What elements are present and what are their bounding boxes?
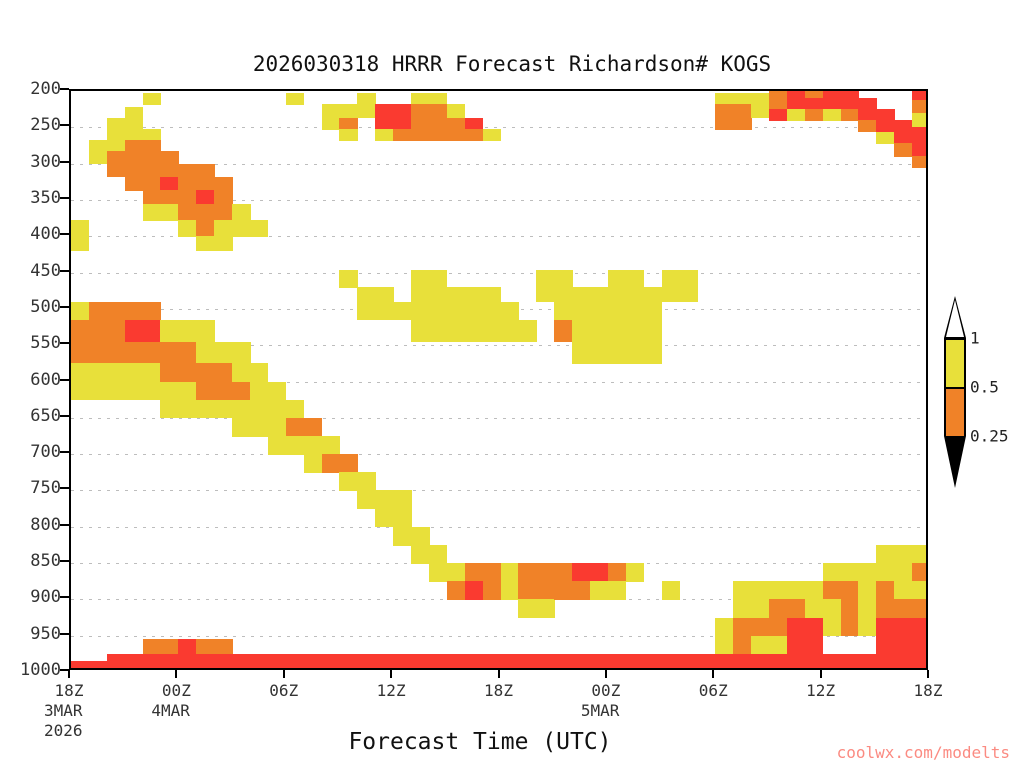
y-axis-tick-label: 650 bbox=[0, 406, 61, 426]
x-axis-tick-label: 18Z bbox=[24, 681, 114, 700]
heatmap-cell bbox=[322, 654, 340, 670]
y-axis-tick-label: 250 bbox=[0, 115, 61, 135]
y-axis-tick-label: 550 bbox=[0, 333, 61, 353]
heatmap-cell bbox=[178, 220, 196, 237]
heatmap-cell bbox=[912, 113, 928, 128]
heatmap-cell bbox=[733, 599, 751, 618]
heatmap-cell bbox=[214, 190, 232, 204]
y-axis-tick-label: 1000 bbox=[0, 660, 61, 680]
heatmap-cell bbox=[160, 151, 178, 164]
heatmap-cell bbox=[483, 563, 501, 582]
heatmap-cell bbox=[232, 400, 250, 419]
heatmap-cell bbox=[107, 164, 125, 178]
x-axis-tick-label: 06Z bbox=[668, 681, 758, 700]
heatmap-cell bbox=[572, 563, 590, 582]
y-axis-tick-label: 600 bbox=[0, 370, 61, 390]
heatmap-cell bbox=[411, 302, 429, 321]
heatmap-cell bbox=[375, 490, 393, 509]
x-axis-tick-label: 00Z bbox=[131, 681, 221, 700]
heatmap-cell bbox=[286, 418, 304, 437]
y-axis-tick-mark bbox=[60, 379, 69, 381]
heatmap-cell bbox=[894, 618, 912, 637]
heatmap-cell bbox=[250, 382, 268, 401]
heatmap-cell bbox=[125, 140, 143, 151]
heatmap-cell bbox=[662, 287, 680, 302]
x-axis-tick-sublabel: 5MAR bbox=[581, 701, 671, 720]
heatmap-cell bbox=[304, 418, 322, 437]
heatmap-cell bbox=[501, 302, 519, 321]
heatmap-cell bbox=[572, 287, 590, 302]
heatmap-cell bbox=[375, 509, 393, 528]
heatmap-cell bbox=[894, 581, 912, 600]
heatmap-cell bbox=[178, 400, 196, 419]
heatmap-cell bbox=[268, 436, 286, 455]
heatmap-cell bbox=[196, 639, 214, 654]
heatmap-cell bbox=[107, 118, 125, 130]
heatmap-cell bbox=[536, 654, 554, 670]
heatmap-cell bbox=[232, 363, 250, 382]
heatmap-cell bbox=[322, 118, 340, 130]
x-axis-tick-mark bbox=[820, 670, 822, 678]
heatmap-cell bbox=[375, 287, 393, 302]
heatmap-cell bbox=[787, 618, 805, 637]
y-axis-tick-label: 950 bbox=[0, 624, 61, 644]
heatmap-cell bbox=[715, 654, 733, 670]
heatmap-cell bbox=[71, 302, 89, 321]
heatmap-cell bbox=[250, 418, 268, 437]
heatmap-cell bbox=[751, 636, 769, 655]
heatmap-cell bbox=[107, 302, 125, 321]
x-axis-tick-label: 18Z bbox=[883, 681, 973, 700]
heatmap-cell bbox=[894, 636, 912, 655]
heatmap-cell bbox=[644, 320, 662, 342]
x-axis-tick-label: 00Z bbox=[561, 681, 651, 700]
heatmap-cell bbox=[626, 287, 644, 302]
heatmap-cell bbox=[89, 320, 107, 342]
heatmap-cell bbox=[769, 581, 787, 600]
heatmap-cell bbox=[375, 654, 393, 670]
heatmap-cell bbox=[465, 118, 483, 130]
heatmap-cell bbox=[841, 109, 859, 120]
heatmap-cell bbox=[250, 400, 268, 419]
y-axis-tick-mark bbox=[60, 342, 69, 344]
heatmap-cell bbox=[143, 342, 161, 364]
heatmap-cell bbox=[841, 654, 859, 670]
heatmap-cell bbox=[483, 129, 501, 140]
heatmap-cell bbox=[411, 320, 429, 342]
y-axis-tick-mark bbox=[60, 487, 69, 489]
heatmap-cell bbox=[107, 342, 125, 364]
heatmap-cell bbox=[518, 563, 536, 582]
heatmap-cell bbox=[590, 302, 608, 321]
heatmap-cell bbox=[89, 382, 107, 401]
heatmap-cell bbox=[894, 599, 912, 618]
heatmap-cell bbox=[339, 654, 357, 670]
heatmap-cell bbox=[429, 302, 447, 321]
y-axis-tick-label: 300 bbox=[0, 152, 61, 172]
heatmap-cell bbox=[894, 120, 912, 132]
heatmap-cell bbox=[178, 654, 196, 670]
heatmap-cell bbox=[787, 98, 805, 109]
heatmap-cell bbox=[214, 400, 232, 419]
heatmap-cell bbox=[447, 104, 465, 118]
heatmap-cell bbox=[125, 342, 143, 364]
x-axis-tick-label: 06Z bbox=[239, 681, 329, 700]
heatmap-cell bbox=[160, 320, 178, 342]
heatmap-cell bbox=[143, 129, 161, 140]
heatmap-cell bbox=[393, 129, 411, 140]
colorbar-legend: 10.50.25 bbox=[936, 296, 976, 488]
heatmap-cell bbox=[787, 599, 805, 618]
y-axis-tick-label: 500 bbox=[0, 297, 61, 317]
heatmap-cell bbox=[178, 190, 196, 204]
y-axis-tick-mark bbox=[60, 596, 69, 598]
heatmap-cell bbox=[393, 104, 411, 118]
colorbar-tick-label: 0.25 bbox=[970, 427, 1009, 446]
heatmap-cell bbox=[268, 654, 286, 670]
heatmap-cell bbox=[160, 204, 178, 221]
heatmap-cell bbox=[465, 129, 483, 140]
heatmap-cell bbox=[143, 639, 161, 654]
heatmap-cell bbox=[107, 320, 125, 342]
heatmap-cell bbox=[554, 302, 572, 321]
heatmap-cell bbox=[196, 190, 214, 204]
heatmap-cell bbox=[178, 320, 196, 342]
heatmap-cell bbox=[715, 618, 733, 637]
heatmap-cell bbox=[322, 436, 340, 455]
heatmap-cell bbox=[715, 636, 733, 655]
heatmap-cell bbox=[608, 302, 626, 321]
y-axis-tick-mark bbox=[60, 451, 69, 453]
heatmap-cell bbox=[554, 287, 572, 302]
heatmap-cell bbox=[608, 342, 626, 364]
heatmap-cell bbox=[357, 287, 375, 302]
heatmap-cell bbox=[841, 98, 859, 109]
heatmap-cell bbox=[876, 120, 894, 132]
heatmap-cell bbox=[107, 654, 125, 670]
heatmap-cell bbox=[608, 320, 626, 342]
heatmap-cell bbox=[322, 104, 340, 118]
y-axis-tick-label: 450 bbox=[0, 261, 61, 281]
heatmap-cell bbox=[501, 654, 519, 670]
heatmap-cell bbox=[447, 302, 465, 321]
heatmap-cell bbox=[375, 118, 393, 130]
heatmap-cell bbox=[483, 581, 501, 600]
heatmap-cell bbox=[876, 618, 894, 637]
heatmap-cell bbox=[805, 109, 823, 120]
heatmap-cell bbox=[751, 104, 769, 118]
heatmap-cell bbox=[662, 270, 680, 287]
heatmap-cell bbox=[501, 563, 519, 582]
heatmap-cell bbox=[429, 93, 447, 104]
heatmap-cell bbox=[697, 654, 715, 670]
heatmap-cell bbox=[912, 636, 928, 655]
heatmap-cell bbox=[662, 654, 680, 670]
heatmap-cell bbox=[751, 654, 769, 670]
heatmap-cell bbox=[89, 140, 107, 151]
heatmap-cell bbox=[876, 636, 894, 655]
heatmap-cell bbox=[501, 581, 519, 600]
heatmap-cell bbox=[357, 490, 375, 509]
y-axis-tick-mark bbox=[60, 197, 69, 199]
watermark: coolwx.com/modelts bbox=[837, 743, 1010, 762]
heatmap-cell bbox=[429, 104, 447, 118]
heatmap-cell bbox=[894, 143, 912, 157]
heatmap-cell bbox=[465, 287, 483, 302]
heatmap-cell bbox=[626, 320, 644, 342]
heatmap-cell bbox=[375, 129, 393, 140]
colorbar-tick-label: 1 bbox=[970, 329, 980, 348]
heatmap-cell bbox=[644, 287, 662, 302]
heatmap-cell bbox=[733, 118, 751, 130]
heatmap-cell bbox=[214, 654, 232, 670]
heatmap-cell bbox=[143, 302, 161, 321]
heatmap-cell bbox=[214, 220, 232, 237]
heatmap-cell bbox=[143, 654, 161, 670]
heatmap-cell bbox=[447, 118, 465, 130]
heatmap-cell bbox=[214, 236, 232, 251]
heatmap-cell bbox=[125, 107, 143, 118]
heatmap-cell bbox=[196, 177, 214, 191]
colorbar-segment-yellow bbox=[944, 338, 966, 387]
heatmap-cell bbox=[214, 639, 232, 654]
heatmap-cell bbox=[787, 636, 805, 655]
x-axis-tick-mark bbox=[68, 670, 70, 678]
heatmap-cell bbox=[160, 654, 178, 670]
heatmap-cell bbox=[733, 654, 751, 670]
heatmap-cell bbox=[178, 382, 196, 401]
heatmap-cell bbox=[143, 177, 161, 191]
heatmap-cell bbox=[644, 654, 662, 670]
heatmap-cell bbox=[805, 599, 823, 618]
y-axis-tick-label: 350 bbox=[0, 188, 61, 208]
heatmap-cell bbox=[805, 618, 823, 637]
heatmap-cell bbox=[554, 563, 572, 582]
heatmap-cell bbox=[214, 382, 232, 401]
heatmap-cell bbox=[894, 545, 912, 564]
heatmap-cell bbox=[160, 190, 178, 204]
heatmap-cell bbox=[787, 109, 805, 120]
heatmap-cell bbox=[554, 320, 572, 342]
heatmap-cell bbox=[894, 132, 912, 144]
heatmap-cell bbox=[429, 287, 447, 302]
heatmap-cell bbox=[805, 98, 823, 109]
heatmap-cell bbox=[143, 204, 161, 221]
heatmap-cell bbox=[107, 363, 125, 382]
heatmap-cell bbox=[679, 654, 697, 670]
heatmap-cell bbox=[769, 636, 787, 655]
heatmap-cell bbox=[429, 129, 447, 140]
heatmap-cell bbox=[178, 164, 196, 178]
x-axis-tick-label: 12Z bbox=[346, 681, 436, 700]
heatmap-cell bbox=[160, 400, 178, 419]
heatmap-cell bbox=[214, 177, 232, 191]
heatmap-cell bbox=[125, 118, 143, 130]
x-axis-tick-sublabel-year: 2026 bbox=[44, 721, 134, 740]
heatmap-cell bbox=[912, 127, 928, 142]
heatmap-cell bbox=[876, 654, 894, 670]
heatmap-cell bbox=[465, 654, 483, 670]
heatmap-cell bbox=[858, 581, 876, 600]
heatmap-cell bbox=[125, 320, 143, 342]
heatmap-cell bbox=[465, 320, 483, 342]
heatmap-cell bbox=[125, 177, 143, 191]
heatmap-cell bbox=[715, 104, 733, 118]
y-axis-tick-label: 800 bbox=[0, 515, 61, 535]
heatmap-cell bbox=[841, 581, 859, 600]
heatmap-cell bbox=[608, 581, 626, 600]
heatmap-cell bbox=[858, 563, 876, 582]
x-axis-tick-label: 18Z bbox=[454, 681, 544, 700]
y-axis-tick-mark bbox=[60, 306, 69, 308]
heatmap-cell bbox=[912, 142, 928, 157]
heatmap-cell bbox=[554, 654, 572, 670]
heatmap-cell bbox=[572, 581, 590, 600]
heatmap-cell bbox=[393, 509, 411, 528]
heatmap-cell bbox=[411, 104, 429, 118]
heatmap-cell bbox=[483, 654, 501, 670]
x-axis-tick-mark bbox=[283, 670, 285, 678]
heatmap-cell bbox=[858, 109, 876, 120]
heatmap-cell bbox=[232, 654, 250, 670]
colorbar-segment-orange bbox=[944, 387, 966, 436]
heatmap-cell bbox=[178, 363, 196, 382]
heatmap-cell bbox=[626, 654, 644, 670]
heatmap-cell bbox=[894, 563, 912, 582]
heatmap-cell bbox=[554, 270, 572, 287]
heatmap-cell bbox=[232, 382, 250, 401]
heatmap-cell bbox=[160, 177, 178, 191]
heatmap-cell bbox=[71, 342, 89, 364]
heatmap-cell bbox=[608, 563, 626, 582]
heatmap-cell bbox=[876, 599, 894, 618]
heatmap-cell bbox=[178, 342, 196, 364]
heatmap-cell bbox=[286, 654, 304, 670]
heatmap-cell bbox=[823, 581, 841, 600]
heatmap-cell bbox=[411, 270, 429, 287]
heatmap-cell bbox=[590, 563, 608, 582]
heatmap-cell bbox=[447, 129, 465, 140]
heatmap-cell bbox=[357, 302, 375, 321]
heatmap-cell bbox=[160, 382, 178, 401]
heatmap-cell bbox=[858, 599, 876, 618]
heatmap-cell bbox=[250, 363, 268, 382]
heatmap-cell bbox=[733, 636, 751, 655]
heatmap-cell bbox=[71, 661, 89, 670]
heatmap-cell bbox=[232, 220, 250, 237]
heatmap-cell bbox=[375, 302, 393, 321]
x-axis-tick-mark bbox=[712, 670, 714, 678]
heatmap-cell bbox=[912, 599, 928, 618]
heatmap-cell bbox=[447, 581, 465, 600]
heatmap-cell bbox=[858, 618, 876, 637]
heatmap-cell bbox=[268, 382, 286, 401]
heatmap-cell bbox=[160, 164, 178, 178]
y-axis-tick-label: 750 bbox=[0, 478, 61, 498]
heatmap-cell bbox=[429, 545, 447, 564]
heatmap-cell bbox=[411, 129, 429, 140]
y-axis-tick-label: 850 bbox=[0, 551, 61, 571]
heatmap-cell bbox=[912, 581, 928, 600]
heatmap-cell bbox=[912, 618, 928, 637]
heatmap-cell bbox=[143, 190, 161, 204]
heatmap-cell bbox=[160, 342, 178, 364]
heatmap-cell bbox=[143, 140, 161, 151]
heatmap-cell bbox=[590, 654, 608, 670]
heatmap-cell bbox=[429, 118, 447, 130]
heatmap-cell bbox=[608, 287, 626, 302]
heatmap-cell bbox=[536, 599, 554, 618]
heatmap-cell bbox=[912, 156, 928, 167]
heatmap-cell bbox=[357, 654, 375, 670]
heatmap-cell bbox=[823, 599, 841, 618]
heatmap-cells bbox=[71, 91, 926, 668]
x-axis-tick-label: 12Z bbox=[776, 681, 866, 700]
heatmap-cell bbox=[787, 581, 805, 600]
heatmap-cell bbox=[608, 270, 626, 287]
heatmap-cell bbox=[429, 270, 447, 287]
heatmap-cell bbox=[644, 302, 662, 321]
heatmap-cell bbox=[196, 363, 214, 382]
x-axis-tick-sublabel: 3MAR bbox=[44, 701, 134, 720]
heatmap-cell bbox=[536, 287, 554, 302]
heatmap-cell bbox=[912, 654, 928, 670]
heatmap-cell bbox=[805, 654, 823, 670]
heatmap-cell bbox=[125, 302, 143, 321]
y-axis-tick-mark bbox=[60, 415, 69, 417]
heatmap-cell bbox=[858, 98, 876, 109]
x-axis-tick-mark bbox=[498, 670, 500, 678]
heatmap-cell bbox=[572, 342, 590, 364]
heatmap-cell bbox=[268, 418, 286, 437]
heatmap-cell bbox=[89, 363, 107, 382]
heatmap-cell bbox=[268, 400, 286, 419]
heatmap-cell bbox=[518, 654, 536, 670]
heatmap-cell bbox=[125, 363, 143, 382]
heatmap-cell bbox=[858, 654, 876, 670]
heatmap-cell bbox=[232, 418, 250, 437]
heatmap-cell bbox=[143, 363, 161, 382]
plot-area bbox=[69, 89, 928, 670]
y-axis-tick-label: 700 bbox=[0, 442, 61, 462]
heatmap-cell bbox=[733, 581, 751, 600]
heatmap-cell bbox=[339, 270, 357, 287]
heatmap-cell bbox=[679, 270, 697, 287]
heatmap-cell bbox=[823, 618, 841, 637]
y-axis-tick-label: 900 bbox=[0, 587, 61, 607]
heatmap-cell bbox=[143, 93, 161, 104]
heatmap-cell bbox=[250, 220, 268, 237]
heatmap-cell bbox=[429, 654, 447, 670]
heatmap-cell bbox=[590, 581, 608, 600]
y-axis-tick-label: 400 bbox=[0, 224, 61, 244]
colorbar-tick-label: 0.5 bbox=[970, 378, 999, 397]
heatmap-cell bbox=[143, 151, 161, 164]
heatmap-cell bbox=[196, 164, 214, 178]
heatmap-cell bbox=[375, 104, 393, 118]
heatmap-cell bbox=[483, 320, 501, 342]
heatmap-cell bbox=[572, 320, 590, 342]
heatmap-cell bbox=[143, 164, 161, 178]
heatmap-cell bbox=[429, 320, 447, 342]
heatmap-cell bbox=[160, 639, 178, 654]
heatmap-cell bbox=[572, 654, 590, 670]
heatmap-cell bbox=[196, 342, 214, 364]
heatmap-cell bbox=[196, 220, 214, 237]
heatmap-cell bbox=[125, 151, 143, 164]
heatmap-cell bbox=[143, 382, 161, 401]
heatmap-cell bbox=[447, 320, 465, 342]
